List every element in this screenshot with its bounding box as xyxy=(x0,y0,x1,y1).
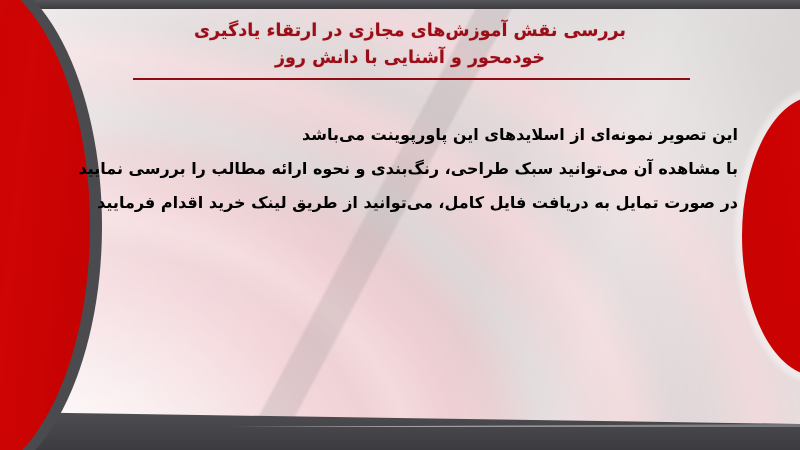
slide-body-line-2: با مشاهده آن می‌توانید سبک طراحی، رنگ‌بن… xyxy=(78,152,738,186)
slide-body-line-1: این تصویر نمونه‌ای از اسلایدهای این پاور… xyxy=(78,118,738,152)
top-frame-band xyxy=(0,0,800,9)
title-underline-rule xyxy=(133,78,690,80)
slide-body: این تصویر نمونه‌ای از اسلایدهای این پاور… xyxy=(78,118,738,220)
slide-title-line-2: خودمحور و آشنایی با دانش روز xyxy=(120,45,700,72)
slide-title: بررسی نقش آموزش‌های مجازی در ارتقاء یادگ… xyxy=(120,18,700,72)
slide-body-line-3: در صورت تمایل به دریافت فایل کامل، می‌تو… xyxy=(78,186,738,220)
slide-title-line-1: بررسی نقش آموزش‌های مجازی در ارتقاء یادگ… xyxy=(120,18,700,45)
presentation-slide: بررسی نقش آموزش‌های مجازی در ارتقاء یادگ… xyxy=(0,0,800,450)
